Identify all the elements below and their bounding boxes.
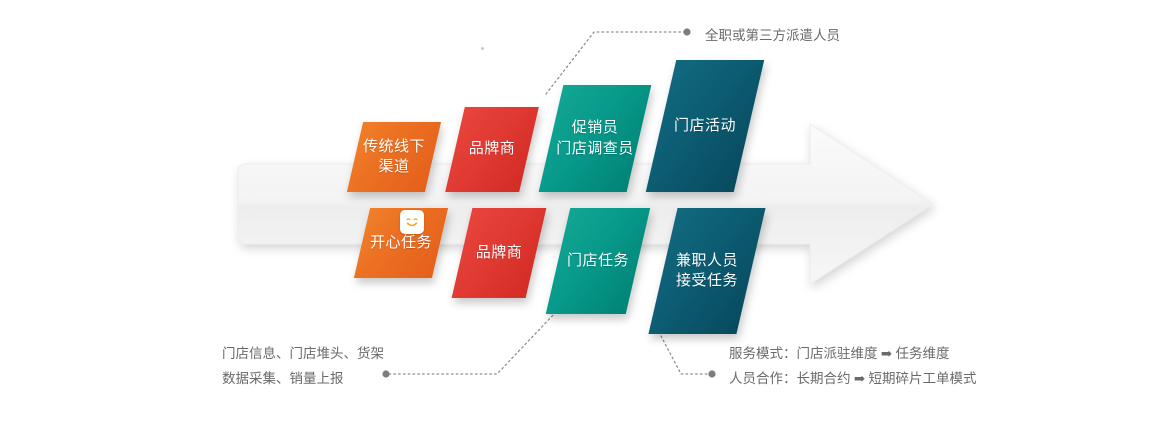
annotation-service-model-line-2: 人员合作：长期合约 ➡ 短期碎片工单模式 — [729, 367, 977, 392]
annotation-layer: 全职或第三方派遣人员 门店信息、门店堆头、货架 数据采集、销量上报 服务模式：门… — [0, 0, 1150, 430]
diagram-canvas: 传统线下 渠道 品牌商 促销员 门店调查员 门店活动 开心任务 — [0, 0, 1150, 430]
annotation-staffing-type-line-1: 全职或第三方派遣人员 — [705, 24, 840, 49]
annotation-task-scope-line-1: 门店信息、门店堆头、货架 — [222, 342, 384, 367]
annotation-task-scope-line-2: 数据采集、销量上报 — [222, 367, 384, 392]
annotation-staffing-type: 全职或第三方派遣人员 — [705, 24, 840, 49]
stray-speck — [481, 47, 484, 50]
annotation-task-scope: 门店信息、门店堆头、货架 数据采集、销量上报 — [222, 342, 384, 392]
annotation-service-model-line-1: 服务模式：门店派驻维度 ➡ 任务维度 — [729, 342, 977, 367]
annotation-service-model: 服务模式：门店派驻维度 ➡ 任务维度 人员合作：长期合约 ➡ 短期碎片工单模式 — [729, 342, 977, 392]
